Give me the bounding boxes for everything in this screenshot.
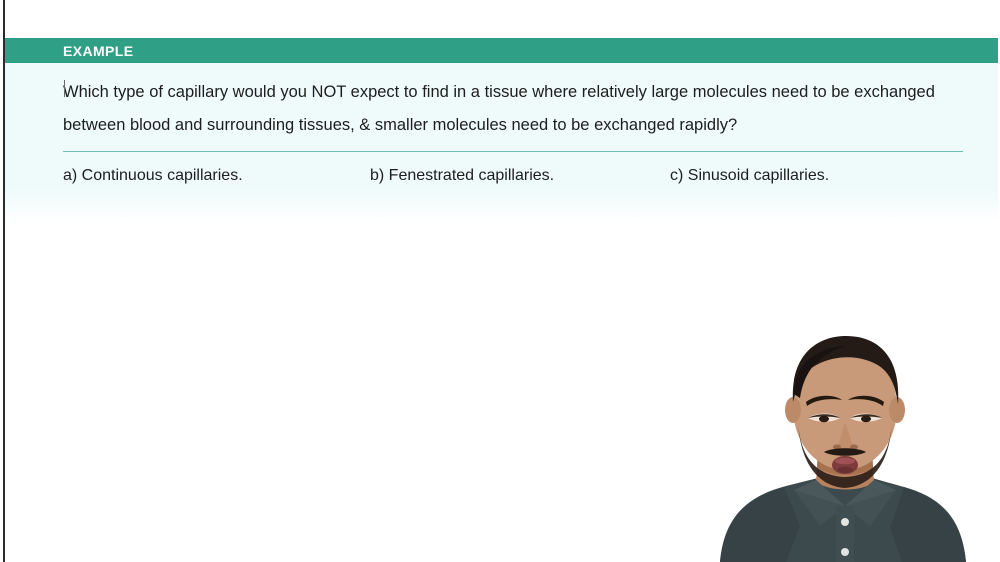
choice-option-c[interactable]: c) Sinusoid capillaries.: [670, 165, 829, 187]
choice-option-a[interactable]: a) Continuous capillaries.: [63, 165, 243, 187]
choice-option-b[interactable]: b) Fenestrated capillaries.: [370, 165, 554, 187]
presenter-figure-icon: [690, 330, 1000, 562]
slide-canvas: EXAMPLE Which type of capillary would yo…: [0, 0, 1000, 562]
example-card: EXAMPLE Which type of capillary would yo…: [5, 38, 998, 221]
question-text: Which type of capillary would you NOT ex…: [63, 76, 958, 142]
presenter-video-overlay[interactable]: [690, 330, 1000, 562]
text-caret-icon: [64, 80, 65, 97]
example-header-bar: EXAMPLE: [5, 38, 998, 63]
example-body: Which type of capillary would you NOT ex…: [5, 63, 998, 221]
question-line-1: Which type of capillary would you NOT ex…: [63, 76, 958, 109]
choice-list: a) Continuous capillaries. b) Fenestrate…: [63, 165, 958, 187]
example-header-label: EXAMPLE: [63, 44, 133, 58]
question-divider: [63, 151, 963, 152]
question-line-2: between blood and surrounding tissues, &…: [63, 109, 958, 142]
